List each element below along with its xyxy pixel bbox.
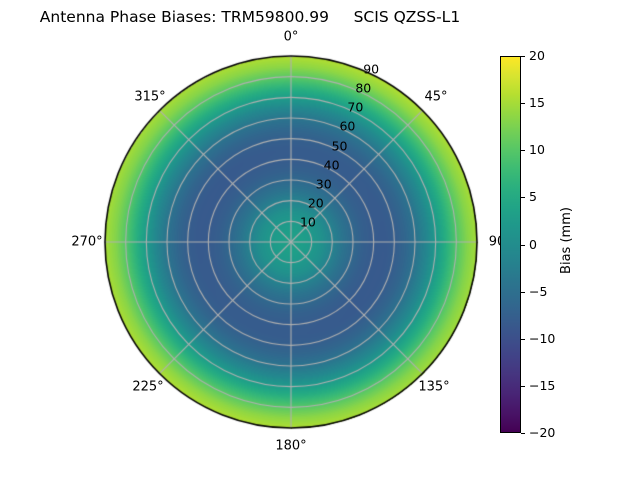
polar-chart-figure: Antenna Phase Biases: TRM59800.99 SCIS Q… (0, 0, 640, 480)
colorbar-axis-label-text: Bias (mm) (559, 207, 574, 274)
colorbar-tick-label: 5 (529, 189, 537, 204)
colorbar-tick-label: 10 (529, 142, 545, 157)
radial-tick-label: 80 (355, 81, 371, 96)
colorbar-tick-mark (521, 197, 525, 198)
colorbar-tick-mark (521, 386, 525, 387)
angular-tick-label: 270° (71, 235, 102, 250)
angular-tick-label: 135° (418, 380, 449, 395)
colorbar-tick-label: 15 (529, 95, 545, 110)
radial-tick-label: 20 (308, 195, 324, 210)
radial-tick-label: 70 (347, 100, 363, 115)
radial-tick-label: 30 (316, 176, 332, 191)
colorbar-tick-label: −5 (529, 284, 547, 299)
angular-tick-label: 0° (284, 30, 299, 45)
angular-tick-label: 45° (424, 90, 447, 105)
radial-tick-label: 90 (363, 62, 379, 77)
colorbar-tick-label: −15 (529, 378, 555, 393)
colorbar-tick-mark (521, 150, 525, 151)
colorbar-tick-label: 0 (529, 237, 537, 252)
radial-tick-label: 40 (324, 157, 340, 172)
radial-tick-label: 50 (332, 138, 348, 153)
colorbar-tick-label: −20 (529, 425, 555, 440)
colorbar-tick-mark (521, 103, 525, 104)
colorbar-gradient (500, 56, 521, 433)
radial-tick-label: 60 (339, 119, 355, 134)
colorbar-tick-mark (521, 339, 525, 340)
colorbar-tick-mark (521, 245, 525, 246)
colorbar-axis-label: Bias (mm) (556, 0, 576, 480)
colorbar-tick-label: 20 (529, 48, 545, 63)
angular-tick-label: 315° (134, 90, 165, 105)
radial-tick-label: 10 (300, 214, 316, 229)
colorbar-tick-mark (521, 292, 525, 293)
angular-tick-label: 180° (275, 439, 306, 454)
colorbar[interactable]: 20151050−5−10−15−20 (500, 56, 521, 433)
colorbar-tick-mark (521, 433, 525, 434)
colorbar-tick-label: −10 (529, 331, 555, 346)
colorbar-tick-mark (521, 56, 525, 57)
angular-tick-label: 225° (132, 380, 163, 395)
